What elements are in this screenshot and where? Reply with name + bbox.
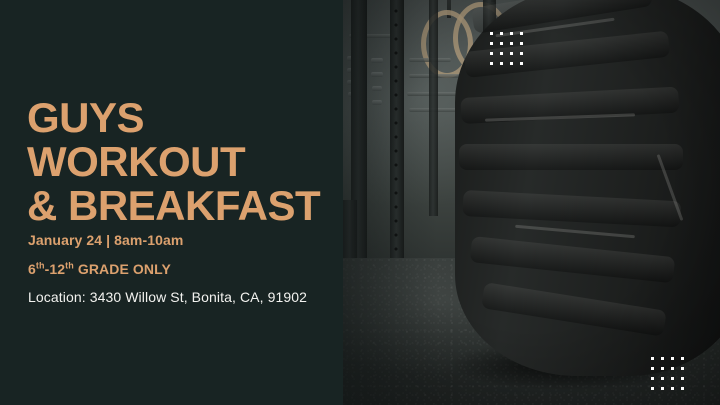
dot xyxy=(661,367,664,370)
dot-grid-bottom-right-decoration xyxy=(651,357,684,390)
dot xyxy=(651,377,654,380)
dot xyxy=(671,377,674,380)
dot xyxy=(510,52,513,55)
dot xyxy=(651,357,654,360)
grade-ordinal-1: th xyxy=(36,260,45,270)
dot xyxy=(681,367,684,370)
grade-ordinal-2: th xyxy=(65,260,74,270)
dot xyxy=(651,367,654,370)
dot xyxy=(661,357,664,360)
dot xyxy=(500,42,503,45)
dot xyxy=(520,32,523,35)
dot xyxy=(681,387,684,390)
dot xyxy=(671,357,674,360)
dot xyxy=(510,32,513,35)
event-flyer: GUYS WORKOUT & BREAKFAST January 24 | 8a… xyxy=(0,0,720,405)
dot xyxy=(520,42,523,45)
dot xyxy=(500,32,503,35)
dot xyxy=(490,42,493,45)
grade-prefix: 6 xyxy=(28,261,36,277)
dot xyxy=(490,62,493,65)
dot xyxy=(500,52,503,55)
dot xyxy=(490,52,493,55)
dot xyxy=(510,42,513,45)
dot xyxy=(671,387,674,390)
dot xyxy=(681,377,684,380)
page-title: GUYS WORKOUT & BREAKFAST xyxy=(27,96,320,228)
dot xyxy=(671,367,674,370)
text-panel: GUYS WORKOUT & BREAKFAST January 24 | 8a… xyxy=(0,0,343,405)
photo-color-grade xyxy=(343,0,720,405)
event-datetime: January 24 | 8am-10am xyxy=(28,232,183,248)
dot xyxy=(651,387,654,390)
dot xyxy=(490,32,493,35)
dot xyxy=(681,357,684,360)
event-location: Location: 3430 Willow St, Bonita, CA, 91… xyxy=(28,289,307,305)
dot xyxy=(510,62,513,65)
dot xyxy=(520,52,523,55)
gym-photo xyxy=(343,0,720,405)
dot xyxy=(500,62,503,65)
dot-grid-top-right-decoration xyxy=(490,32,523,65)
grade-middle: -12 xyxy=(45,261,66,277)
grade-suffix: GRADE ONLY xyxy=(74,261,171,277)
dot xyxy=(520,62,523,65)
grade-requirement: 6th-12th GRADE ONLY xyxy=(28,261,171,277)
dot xyxy=(661,377,664,380)
dot xyxy=(661,387,664,390)
